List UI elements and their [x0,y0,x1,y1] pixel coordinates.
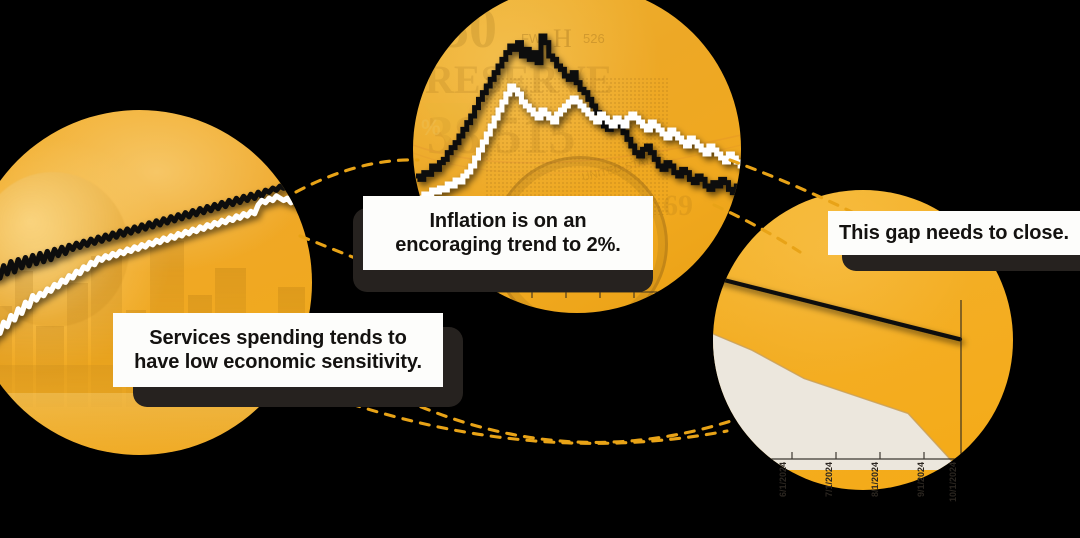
callout-line-1: Services spending tends to [149,327,406,349]
callout-line-1: This gap needs to close. [839,221,1069,245]
svg-text:FW: FW [521,31,542,46]
gap-axis-tick-0: 6/1/2024 [778,462,788,497]
callout-text-box: This gap needs to close. [828,211,1080,255]
callout-line-2: have low economic sensitivity. [134,351,422,373]
svg-text:50: 50 [441,0,497,60]
callout-line-2: encoraging trend to 2%. [395,234,621,256]
gap-axis-tick-4: 10/1/2024 [948,462,958,502]
gap-axis-tick-2: 8/1/2024 [870,462,880,497]
infographic-canvas: 50 FW H 526 RESERVE 38 515 69 UNITED STA… [0,0,1080,538]
svg-text:H: H [553,24,572,53]
connector-left-to-mid-upper [296,160,418,192]
callout-line-1: Inflation is on an [429,210,586,232]
gap-axis-tick-1: 7/1/2024 [824,462,834,497]
svg-text:%: % [421,115,441,140]
callout-text-box: Services spending tends to have low econ… [113,313,443,387]
callout-text-box: Inflation is on an encoraging trend to 2… [363,196,653,270]
svg-text:526: 526 [583,31,605,46]
gap-axis-tick-3: 9/1/2024 [916,462,926,497]
